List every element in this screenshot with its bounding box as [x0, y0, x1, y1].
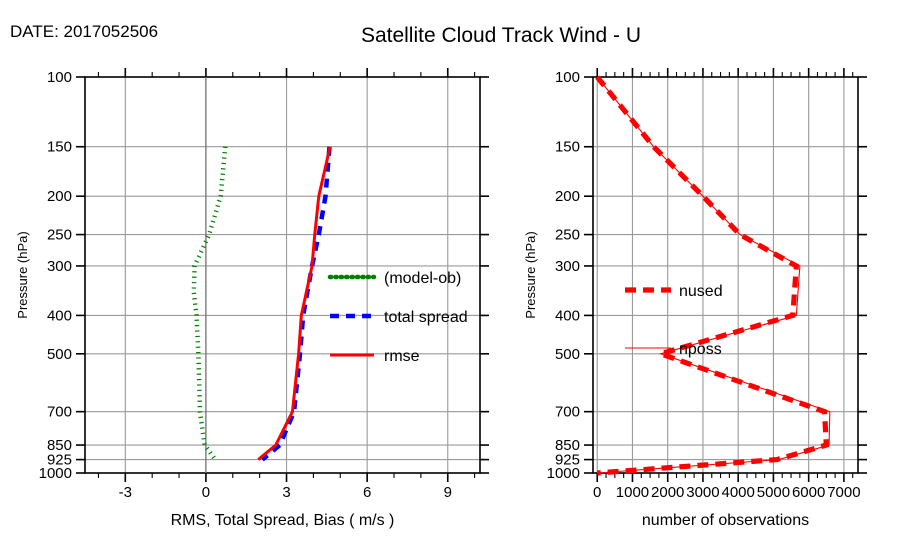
figure-canvas: DATE: 2017052506 Satellite Cloud Track W…	[0, 0, 900, 560]
y-tick-label: 700	[555, 404, 580, 421]
y-tick-label: 250	[555, 227, 580, 244]
y-tick-label: 500	[555, 346, 580, 363]
x-tick-label: 4000	[721, 484, 754, 501]
x-tick-label: 5000	[757, 484, 790, 501]
y-tick-label: 400	[47, 307, 72, 324]
statistics-profile-panel: 1001502002503004005007008509251000-30369…	[15, 68, 489, 529]
y-tick-label: 200	[555, 188, 580, 205]
chart-title: Satellite Cloud Track Wind - U	[361, 24, 641, 47]
y-tick-label: 1000	[39, 465, 72, 482]
series-line-rmse	[258, 147, 330, 460]
x-axis-title: number of observations	[642, 512, 809, 529]
x-tick-label: 6000	[792, 484, 825, 501]
x-tick-label: 3	[282, 484, 290, 501]
y-tick-label: 500	[47, 346, 72, 363]
chart-page: DATE: 2017052506 Satellite Cloud Track W…	[0, 0, 900, 560]
legend-label: rmse	[384, 348, 420, 365]
x-tick-label: 6	[363, 484, 371, 501]
y-tick-label: 100	[555, 69, 580, 86]
y-tick-label: 1000	[547, 465, 580, 482]
x-tick-label: 2000	[651, 484, 684, 501]
legend-label: total spread	[384, 309, 468, 326]
y-tick-label: 300	[555, 258, 580, 275]
series-line-nused	[597, 77, 826, 473]
y-tick-label: 200	[47, 188, 72, 205]
x-tick-label: -3	[119, 484, 132, 501]
x-tick-label: 0	[202, 484, 210, 501]
x-tick-label: 7000	[827, 484, 860, 501]
y-tick-label: 300	[47, 258, 72, 275]
y-tick-label: 100	[47, 69, 72, 86]
series-line--model-ob-	[194, 147, 225, 460]
y-tick-label: 150	[555, 139, 580, 156]
legend-label: nused	[679, 283, 723, 300]
y-tick-label: 250	[47, 227, 72, 244]
y-axis-title: Pressure (hPa)	[15, 231, 30, 318]
y-tick-label: 150	[47, 139, 72, 156]
legend-label: nposs	[679, 341, 722, 358]
y-tick-label: 400	[555, 307, 580, 324]
x-axis-title: RMS, Total Spread, Bias ( m/s )	[171, 512, 395, 529]
x-tick-label: 1000	[616, 484, 649, 501]
x-tick-label: 9	[444, 484, 452, 501]
y-axis-title: Pressure (hPa)	[523, 231, 538, 318]
legend-label: (model-ob)	[384, 270, 461, 287]
observation-count-panel: 1001502002503004005007008509251000010002…	[523, 68, 867, 529]
y-tick-label: 700	[47, 404, 72, 421]
date-label: DATE: 2017052506	[10, 22, 158, 41]
x-tick-label: 0	[593, 484, 601, 501]
x-tick-label: 3000	[686, 484, 719, 501]
